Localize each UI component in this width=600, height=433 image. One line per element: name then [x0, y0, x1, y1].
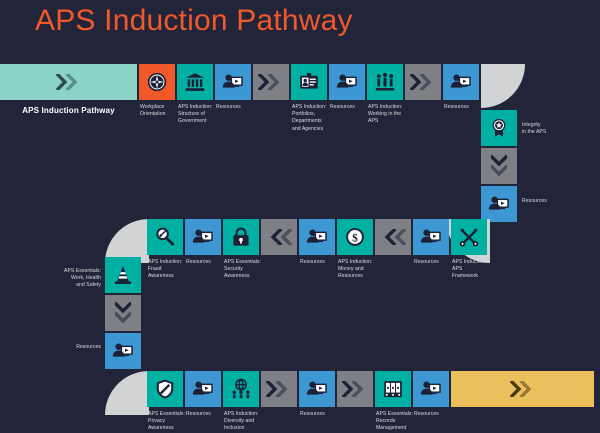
tile-label-resources-4: Resources: [522, 198, 578, 205]
double-chevron-right-icon: [410, 74, 436, 90]
double-chevron-right-icon: [258, 74, 284, 90]
double-chevron-left-icon: [380, 229, 406, 245]
pathway-tile-arrow-down-1[interactable]: [481, 148, 517, 184]
pathway-tile-privacy-awareness[interactable]: [147, 371, 183, 407]
tile-label-resources-8: Resources: [43, 344, 101, 351]
pathway-tile-resources-8[interactable]: [105, 333, 141, 369]
resources-icon: [112, 340, 134, 362]
end-bar[interactable]: [451, 371, 594, 407]
pathway-tile-arrow-2[interactable]: [405, 64, 441, 100]
pathway-tile-arrow-1[interactable]: [253, 64, 289, 100]
pathway-tile-aps-framework[interactable]: [451, 219, 487, 255]
double-chevron-down-icon: [491, 153, 507, 179]
pathway-tile-resources-6[interactable]: [299, 219, 335, 255]
tile-label-diversity-and-inclusion: APS Induction: Diversity and Inclusion: [224, 411, 268, 433]
resources-icon: [222, 71, 244, 93]
resources-icon: [336, 71, 358, 93]
tile-label-resources-10: Resources: [300, 411, 344, 418]
pathway-tile-resources-3[interactable]: [443, 64, 479, 100]
pathway-tile-workplace-orientation[interactable]: [139, 64, 175, 100]
globe-people-icon: [230, 378, 252, 400]
tile-label-aps-framework: APS Induction: APS Framework: [452, 259, 496, 281]
people-group-icon: [374, 71, 396, 93]
tile-label-security-awareness: APS Essentials: Security Awareness: [224, 259, 268, 281]
magnifier-icon: [154, 226, 176, 248]
tile-label-money-and-resources: APS Induction: Money and Resources: [338, 259, 382, 281]
award-rosette-icon: [488, 117, 510, 139]
pathway-tile-portfolios-departments-agencies[interactable]: [291, 64, 327, 100]
compass-icon: [146, 71, 168, 93]
pathway-tile-money-and-resources[interactable]: $: [337, 219, 373, 255]
path-corner-top-right: [481, 64, 525, 108]
pathway-tile-fraud-awareness[interactable]: [147, 219, 183, 255]
tile-label-resources-11: Resources: [414, 411, 458, 418]
svg-text:$: $: [352, 233, 358, 245]
archive-boxes-icon: [382, 378, 404, 400]
resources-icon: [420, 378, 442, 400]
pathway-tile-resources-7[interactable]: [413, 219, 449, 255]
tile-label-integrity-in-the-aps: Integrity in the APS: [522, 122, 578, 136]
double-chevron-down-icon: [115, 300, 131, 326]
pathway-tile-arrow-6[interactable]: [337, 371, 373, 407]
pathway-tile-arrow-3[interactable]: [261, 219, 297, 255]
resources-icon: [306, 226, 328, 248]
start-bar-label: APS Induction Pathway: [0, 106, 137, 115]
pathway-tile-resources-11[interactable]: [413, 371, 449, 407]
pathway-tile-arrow-down-2[interactable]: [105, 295, 141, 331]
pathway-tile-resources-1[interactable]: [215, 64, 251, 100]
double-chevron-left-icon: [266, 229, 292, 245]
bank-icon: [184, 71, 206, 93]
resources-icon: [450, 71, 472, 93]
pathway-tile-work-health-and-safety[interactable]: [105, 257, 141, 293]
tools-cross-icon: [458, 226, 480, 248]
pathway-tile-security-awareness[interactable]: [223, 219, 259, 255]
dollar-coin-icon: $: [344, 226, 366, 248]
double-chevron-right-icon: [510, 381, 536, 397]
traffic-cone-icon: [112, 264, 134, 286]
double-chevron-right-icon: [266, 381, 292, 397]
pathway-tile-resources-5[interactable]: [185, 219, 221, 255]
pathway-tile-diversity-and-inclusion[interactable]: [223, 371, 259, 407]
pathway-tile-integrity-in-the-aps[interactable]: [481, 110, 517, 146]
pathway-tile-working-in-the-aps[interactable]: [367, 64, 403, 100]
tile-label-resources-1: Resources: [216, 104, 260, 111]
double-chevron-right-icon: [56, 74, 82, 90]
pathway-tile-resources-4[interactable]: [481, 186, 517, 222]
pathway-tile-structure-of-government[interactable]: [177, 64, 213, 100]
pathway-tile-resources-9[interactable]: [185, 371, 221, 407]
page-title: APS Induction Pathway: [35, 4, 353, 38]
resources-icon: [192, 226, 214, 248]
tile-label-work-health-and-safety: APS Essentials: Work, Health and Safety: [43, 268, 101, 290]
resources-icon: [420, 226, 442, 248]
pathway-tile-records-management[interactable]: [375, 371, 411, 407]
pathway-canvas: APS Induction Pathway APS Induction Path…: [0, 0, 600, 429]
pathway-tile-arrow-4[interactable]: [375, 219, 411, 255]
path-corner-bottom-left: [105, 371, 149, 415]
pathway-tile-arrow-5[interactable]: [261, 371, 297, 407]
resources-icon: [488, 193, 510, 215]
padlock-icon: [230, 226, 252, 248]
tile-label-working-in-the-aps: APS Induction: Working in the APS: [368, 104, 412, 126]
id-badge-icon: [298, 71, 320, 93]
pathway-tile-resources-10[interactable]: [299, 371, 335, 407]
start-bar[interactable]: [0, 64, 137, 100]
pathway-tile-resources-2[interactable]: [329, 64, 365, 100]
resources-icon: [192, 378, 214, 400]
shield-slash-icon: [154, 378, 176, 400]
resources-icon: [306, 378, 328, 400]
double-chevron-right-icon: [342, 381, 368, 397]
